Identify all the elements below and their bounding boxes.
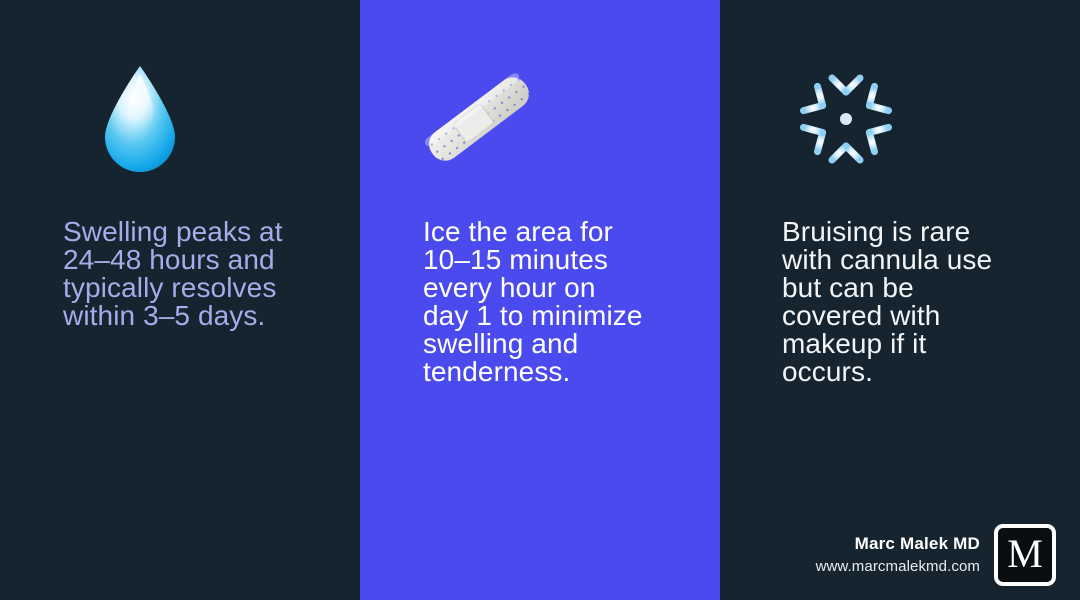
panel-swelling: Swelling peaks at 24–48 hours and typica… xyxy=(0,0,360,600)
snowflake-icon xyxy=(788,61,904,177)
brand-logo-icon: M xyxy=(994,524,1056,586)
panel-bruising-text: Bruising is rare with cannula use but ca… xyxy=(782,218,1056,386)
brand-footer: Marc Malek MD www.marcmalekmd.com M xyxy=(816,524,1056,586)
infographic-canvas: Swelling peaks at 24–48 hours and typica… xyxy=(0,0,1080,600)
adhesive-bandage-icon xyxy=(423,63,535,175)
panel-swelling-text: Swelling peaks at 24–48 hours and typica… xyxy=(63,218,336,330)
brand-name: Marc Malek MD xyxy=(855,534,980,554)
snowflake-icon-wrap xyxy=(782,60,1056,178)
panel-ice-text: Ice the area for 10–15 minutes every hou… xyxy=(423,218,696,386)
panel-swelling-content: Swelling peaks at 24–48 hours and typica… xyxy=(63,60,336,330)
brand-website-url[interactable]: www.marcmalekmd.com xyxy=(816,558,980,576)
panel-bruising-content: Bruising is rare with cannula use but ca… xyxy=(782,60,1056,386)
adhesive-bandage-icon-wrap xyxy=(423,60,696,178)
panel-bruising: Bruising is rare with cannula use but ca… xyxy=(720,0,1080,600)
panel-ice: Ice the area for 10–15 minutes every hou… xyxy=(360,0,720,600)
panel-ice-content: Ice the area for 10–15 minutes every hou… xyxy=(423,60,696,386)
brand-logo-letter: M xyxy=(1007,534,1043,574)
water-droplet-icon xyxy=(97,63,183,175)
water-droplet-icon-wrap xyxy=(63,60,336,178)
brand-text-block: Marc Malek MD www.marcmalekmd.com xyxy=(816,534,980,576)
